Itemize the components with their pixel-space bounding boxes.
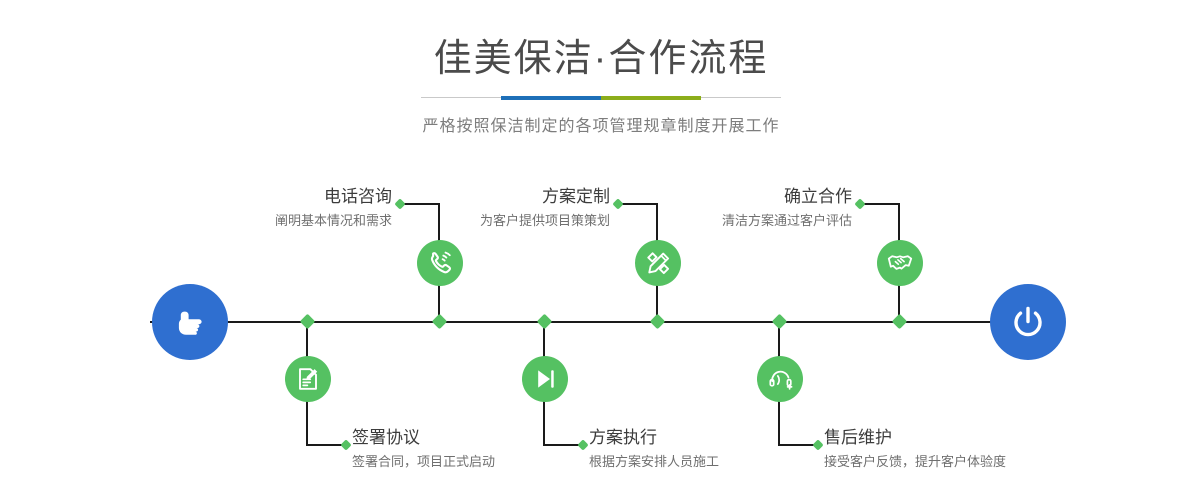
- step-icon-2: [285, 356, 331, 402]
- label-marker-5: [854, 198, 865, 209]
- step-label-5: 确立合作 清洁方案通过客户评估: [596, 186, 852, 231]
- timeline-marker-5: [892, 314, 908, 330]
- step-title-6: 售后维护: [824, 427, 1006, 449]
- step-icon-6: [757, 356, 803, 402]
- step-icon-3: [635, 240, 681, 286]
- label-marker-4: [577, 439, 588, 450]
- step-subtitle-5: 清洁方案通过客户评估: [596, 208, 852, 231]
- play-execute-icon: [532, 366, 558, 392]
- label-marker-2: [340, 439, 351, 450]
- timeline-axis: [150, 321, 1052, 323]
- pointing-hand-icon: [170, 302, 210, 342]
- step-icon-4: [522, 356, 568, 402]
- connector-horizontal-1: [400, 203, 440, 205]
- step-label-2: 签署协议 签署合同，项目正式启动: [352, 427, 495, 472]
- step-subtitle-3: 为客户提供项目策策划: [348, 208, 610, 231]
- timeline-marker-6: [772, 314, 788, 330]
- step-label-4: 方案执行 根据方案安排人员施工: [589, 427, 719, 472]
- step-subtitle-4: 根据方案安排人员施工: [589, 449, 719, 472]
- step-icon-1: [417, 240, 463, 286]
- timeline-marker-1: [432, 314, 448, 330]
- step-label-6: 售后维护 接受客户反馈，提升客户体验度: [824, 427, 1006, 472]
- pencil-ruler-icon: [645, 250, 672, 277]
- process-flow-infographic: 佳美保洁·合作流程 严格按照保洁制定的各项管理规章制度开展工作: [0, 0, 1202, 502]
- timeline-marker-4: [537, 314, 553, 330]
- headset-support-icon: [767, 366, 794, 393]
- step-subtitle-2: 签署合同，项目正式启动: [352, 449, 495, 472]
- connector-horizontal-3: [618, 203, 658, 205]
- step-title-4: 方案执行: [589, 427, 719, 449]
- timeline-marker-2: [300, 314, 316, 330]
- step-title-2: 签署协议: [352, 427, 495, 449]
- timeline-marker-3: [650, 314, 666, 330]
- connector-horizontal-5: [860, 203, 900, 205]
- label-marker-6: [812, 439, 823, 450]
- timeline-start-node: [152, 284, 228, 360]
- phone-call-icon: [426, 249, 454, 277]
- timeline-end-node: [990, 284, 1066, 360]
- handshake-icon: [886, 249, 914, 277]
- step-label-3: 方案定制 为客户提供项目策策划: [348, 186, 610, 231]
- step-icon-5: [877, 240, 923, 286]
- document-edit-icon: [295, 366, 321, 392]
- power-button-icon: [1007, 301, 1049, 343]
- step-title-3: 方案定制: [348, 186, 610, 208]
- step-subtitle-6: 接受客户反馈，提升客户体验度: [824, 449, 1006, 472]
- timeline: 电话咨询 阐明基本情况和需求 签署协议 签署合同，项目正式启动: [0, 0, 1202, 502]
